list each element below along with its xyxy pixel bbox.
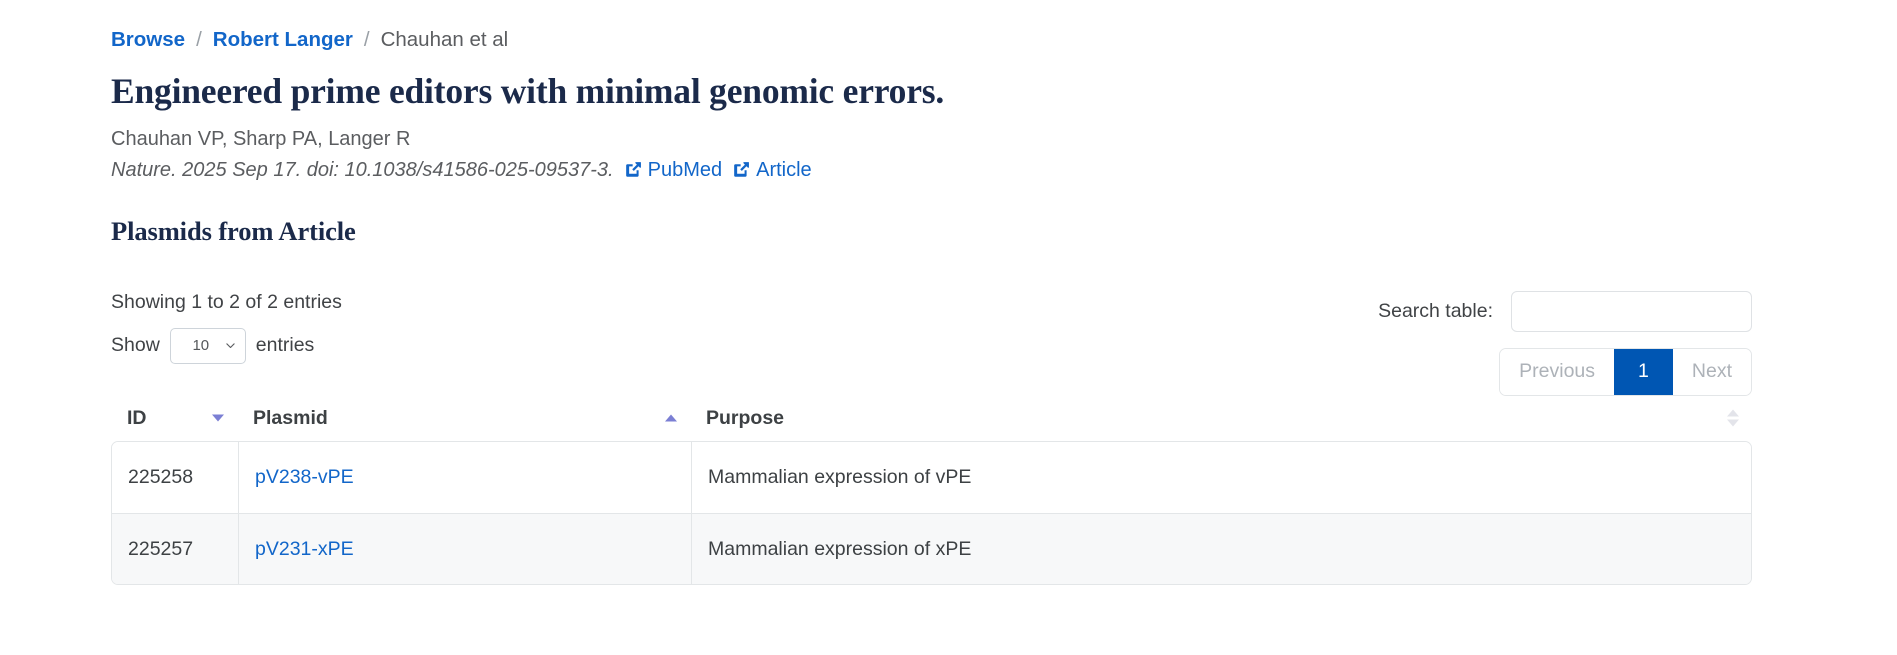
table-length-control: Show 10 25 50 100 (111, 328, 342, 364)
page-root: Browse / Robert Langer / Chauhan et al E… (0, 0, 1897, 655)
table-row: 225258 pV238-vPE Mammalian expression of… (112, 442, 1751, 513)
content-container: Browse / Robert Langer / Chauhan et al E… (111, 0, 1752, 585)
breadcrumb-item-current: Chauhan et al (381, 27, 509, 54)
article-authors: Chauhan VP, Sharp PA, Langer R (111, 126, 1752, 153)
column-header-plasmid-label: Plasmid (253, 407, 328, 430)
cell-purpose: Mammalian expression of vPE (691, 442, 1751, 513)
cell-plasmid: pV238-vPE (238, 442, 691, 513)
pagination: Previous 1 Next (1332, 348, 1752, 396)
pubmed-link[interactable]: PubMed (625, 157, 723, 184)
cell-id: 225257 (112, 514, 238, 584)
sort-descending-icon (212, 415, 224, 422)
plasmid-link[interactable]: pV238-vPE (255, 466, 354, 489)
article-citation: Nature. 2025 Sep 17. doi: 10.1038/s41586… (111, 157, 1752, 184)
column-header-purpose[interactable]: Purpose (690, 407, 1752, 430)
pagination-group: Previous 1 Next (1499, 348, 1752, 396)
cell-purpose: Mammalian expression of xPE (691, 514, 1751, 584)
plasmids-table: 225258 pV238-vPE Mammalian expression of… (111, 441, 1752, 585)
external-link-icon (733, 161, 750, 178)
table-search-filter: Search table: (1332, 291, 1752, 332)
article-link-label: Article (756, 157, 812, 184)
plasmid-link[interactable]: pV231-xPE (255, 538, 354, 561)
page-title: Engineered prime editors with minimal ge… (111, 71, 1752, 112)
search-label: Search table: (1378, 300, 1493, 323)
breadcrumb-item-browse[interactable]: Browse (111, 27, 185, 54)
sort-none-icon (1727, 410, 1739, 427)
section-heading: Plasmids from Article (111, 216, 1752, 247)
table-header-row: ID Plasmid Purpose (111, 395, 1752, 441)
citation-text: Nature. 2025 Sep 17. doi: 10.1038/s41586… (111, 157, 614, 184)
breadcrumb: Browse / Robert Langer / Chauhan et al (111, 0, 1752, 54)
table-controls-right: Search table: Previous 1 Next (1332, 291, 1752, 396)
table-controls: Showing 1 to 2 of 2 entries Show 10 25 5… (111, 291, 1752, 387)
entries-per-page-select[interactable]: 10 25 50 100 (170, 328, 246, 364)
column-header-purpose-label: Purpose (706, 407, 784, 430)
table-info: Showing 1 to 2 of 2 entries (111, 291, 342, 314)
search-input[interactable] (1511, 291, 1752, 332)
pubmed-link-label: PubMed (648, 157, 723, 184)
breadcrumb-separator: / (196, 27, 202, 54)
table-row: 225257 pV231-xPE Mammalian expression of… (112, 513, 1751, 584)
column-header-plasmid[interactable]: Plasmid (237, 407, 690, 430)
column-header-id[interactable]: ID (111, 407, 237, 430)
pagination-page-1-button[interactable]: 1 (1614, 349, 1673, 395)
length-label-pre: Show (111, 334, 160, 357)
table-controls-left: Showing 1 to 2 of 2 entries Show 10 25 5… (111, 291, 342, 363)
entries-select-wrapper: 10 25 50 100 (170, 328, 246, 364)
article-link[interactable]: Article (733, 157, 812, 184)
breadcrumb-item-robert-langer[interactable]: Robert Langer (213, 27, 353, 54)
length-label-post: entries (256, 334, 315, 357)
pagination-previous-button[interactable]: Previous (1500, 349, 1614, 395)
external-link-icon (625, 161, 642, 178)
sort-ascending-icon (665, 415, 677, 422)
column-header-id-label: ID (127, 407, 147, 430)
pagination-next-button[interactable]: Next (1673, 349, 1751, 395)
breadcrumb-separator: / (364, 27, 370, 54)
cell-plasmid: pV231-xPE (238, 514, 691, 584)
cell-id: 225258 (112, 442, 238, 513)
